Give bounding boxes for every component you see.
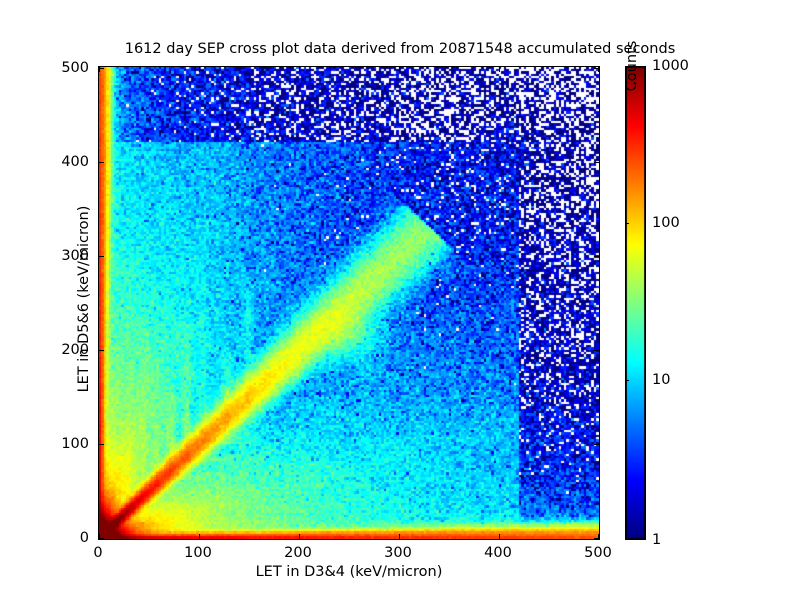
ytick-mark-right-100: [594, 444, 599, 445]
x-axis-label: LET in D3&4 (keV/micron): [98, 564, 600, 580]
y-axis-label: LET in D5&6 (keV/micron): [76, 62, 92, 536]
ytick-mark-200: [99, 350, 104, 351]
xtick-mark-top-300: [399, 67, 400, 72]
cbar-tick-label-100: 100: [652, 215, 680, 231]
ytick-mark-right-300: [594, 256, 599, 257]
title-line-1: 1612 day SEP cross plot data derived fro…: [0, 41, 800, 59]
colorbar-label: Counts: [624, 0, 640, 303]
plot-axes-frame: [98, 66, 600, 540]
xtick-mark-100: [199, 534, 200, 539]
ytick-mark-right-0: [594, 538, 599, 539]
xtick-mark-300: [399, 534, 400, 539]
ytick-mark-500: [99, 68, 104, 69]
xtick-mark-top-200: [299, 67, 300, 72]
ytick-mark-right-200: [594, 350, 599, 351]
xtick-label-400: 400: [484, 545, 512, 561]
figure-canvas: 1612 day SEP cross plot data derived fro…: [0, 0, 800, 600]
xtick-label-200: 200: [284, 545, 312, 561]
xtick-mark-200: [299, 534, 300, 539]
scatter-heatmap-canvas: [99, 67, 599, 539]
ytick-mark-300: [99, 256, 104, 257]
xtick-label-300: 300: [384, 545, 412, 561]
ytick-mark-right-400: [594, 162, 599, 163]
cbar-tick-label-10: 10: [652, 372, 670, 388]
xtick-label-100: 100: [184, 545, 212, 561]
ytick-mark-400: [99, 162, 104, 163]
xtick-mark-top-100: [199, 67, 200, 72]
cbar-tick-label-1000: 1000: [652, 58, 689, 74]
xtick-mark-top-400: [499, 67, 500, 72]
cbar-tick-label-1: 1: [652, 532, 661, 548]
xtick-label-0: 0: [93, 545, 102, 561]
cbar-tick-mark-10: [625, 380, 629, 381]
xtick-label-500: 500: [584, 545, 612, 561]
xtick-mark-400: [499, 534, 500, 539]
ytick-mark-0: [99, 538, 104, 539]
ytick-mark-100: [99, 444, 104, 445]
ytick-mark-right-500: [594, 68, 599, 69]
